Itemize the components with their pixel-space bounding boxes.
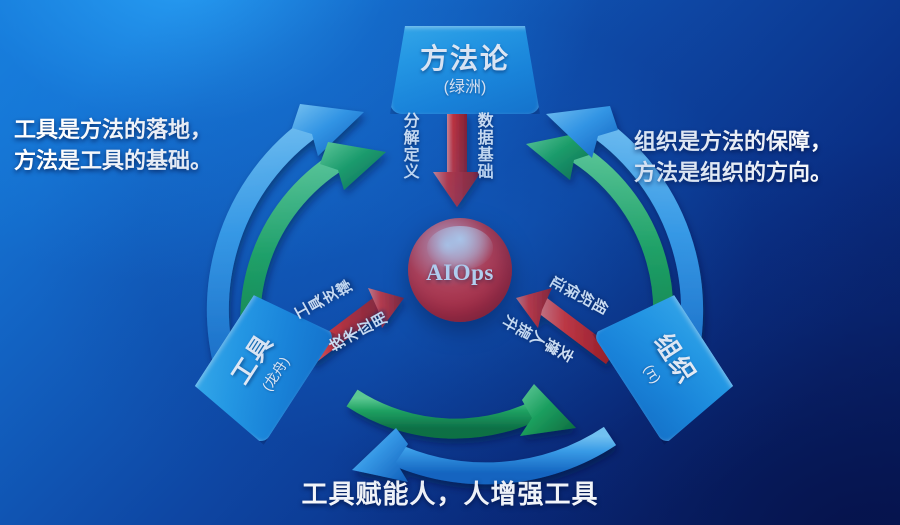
- caption-bottom: 工具赋能人，人增强工具: [0, 474, 900, 511]
- node-methodology-subtitle: (绿洲): [444, 80, 487, 96]
- node-methodology[interactable]: 方法论 (绿洲): [390, 26, 540, 114]
- diagram-canvas: 方法论 (绿洲) 工具 (龙舟) 组织 (π) AIOps 分解定义 数据基础 …: [0, 0, 900, 525]
- label-decompose-define: 分解定义: [400, 112, 417, 180]
- caption-right: 组织是方法的保障， 方法是组织的方向。: [634, 126, 884, 188]
- node-methodology-title: 方法论: [420, 45, 510, 73]
- center-sphere-aiops[interactable]: AIOps: [408, 218, 512, 322]
- node-organization-subtitle: (π): [642, 362, 664, 386]
- caption-left: 工具是方法的落地， 方法是工具的基础。: [14, 114, 264, 176]
- label-data-foundation: 数据基础: [474, 112, 491, 180]
- center-label: AIOps: [426, 260, 494, 286]
- green-arc-tool-to-org: [352, 384, 576, 436]
